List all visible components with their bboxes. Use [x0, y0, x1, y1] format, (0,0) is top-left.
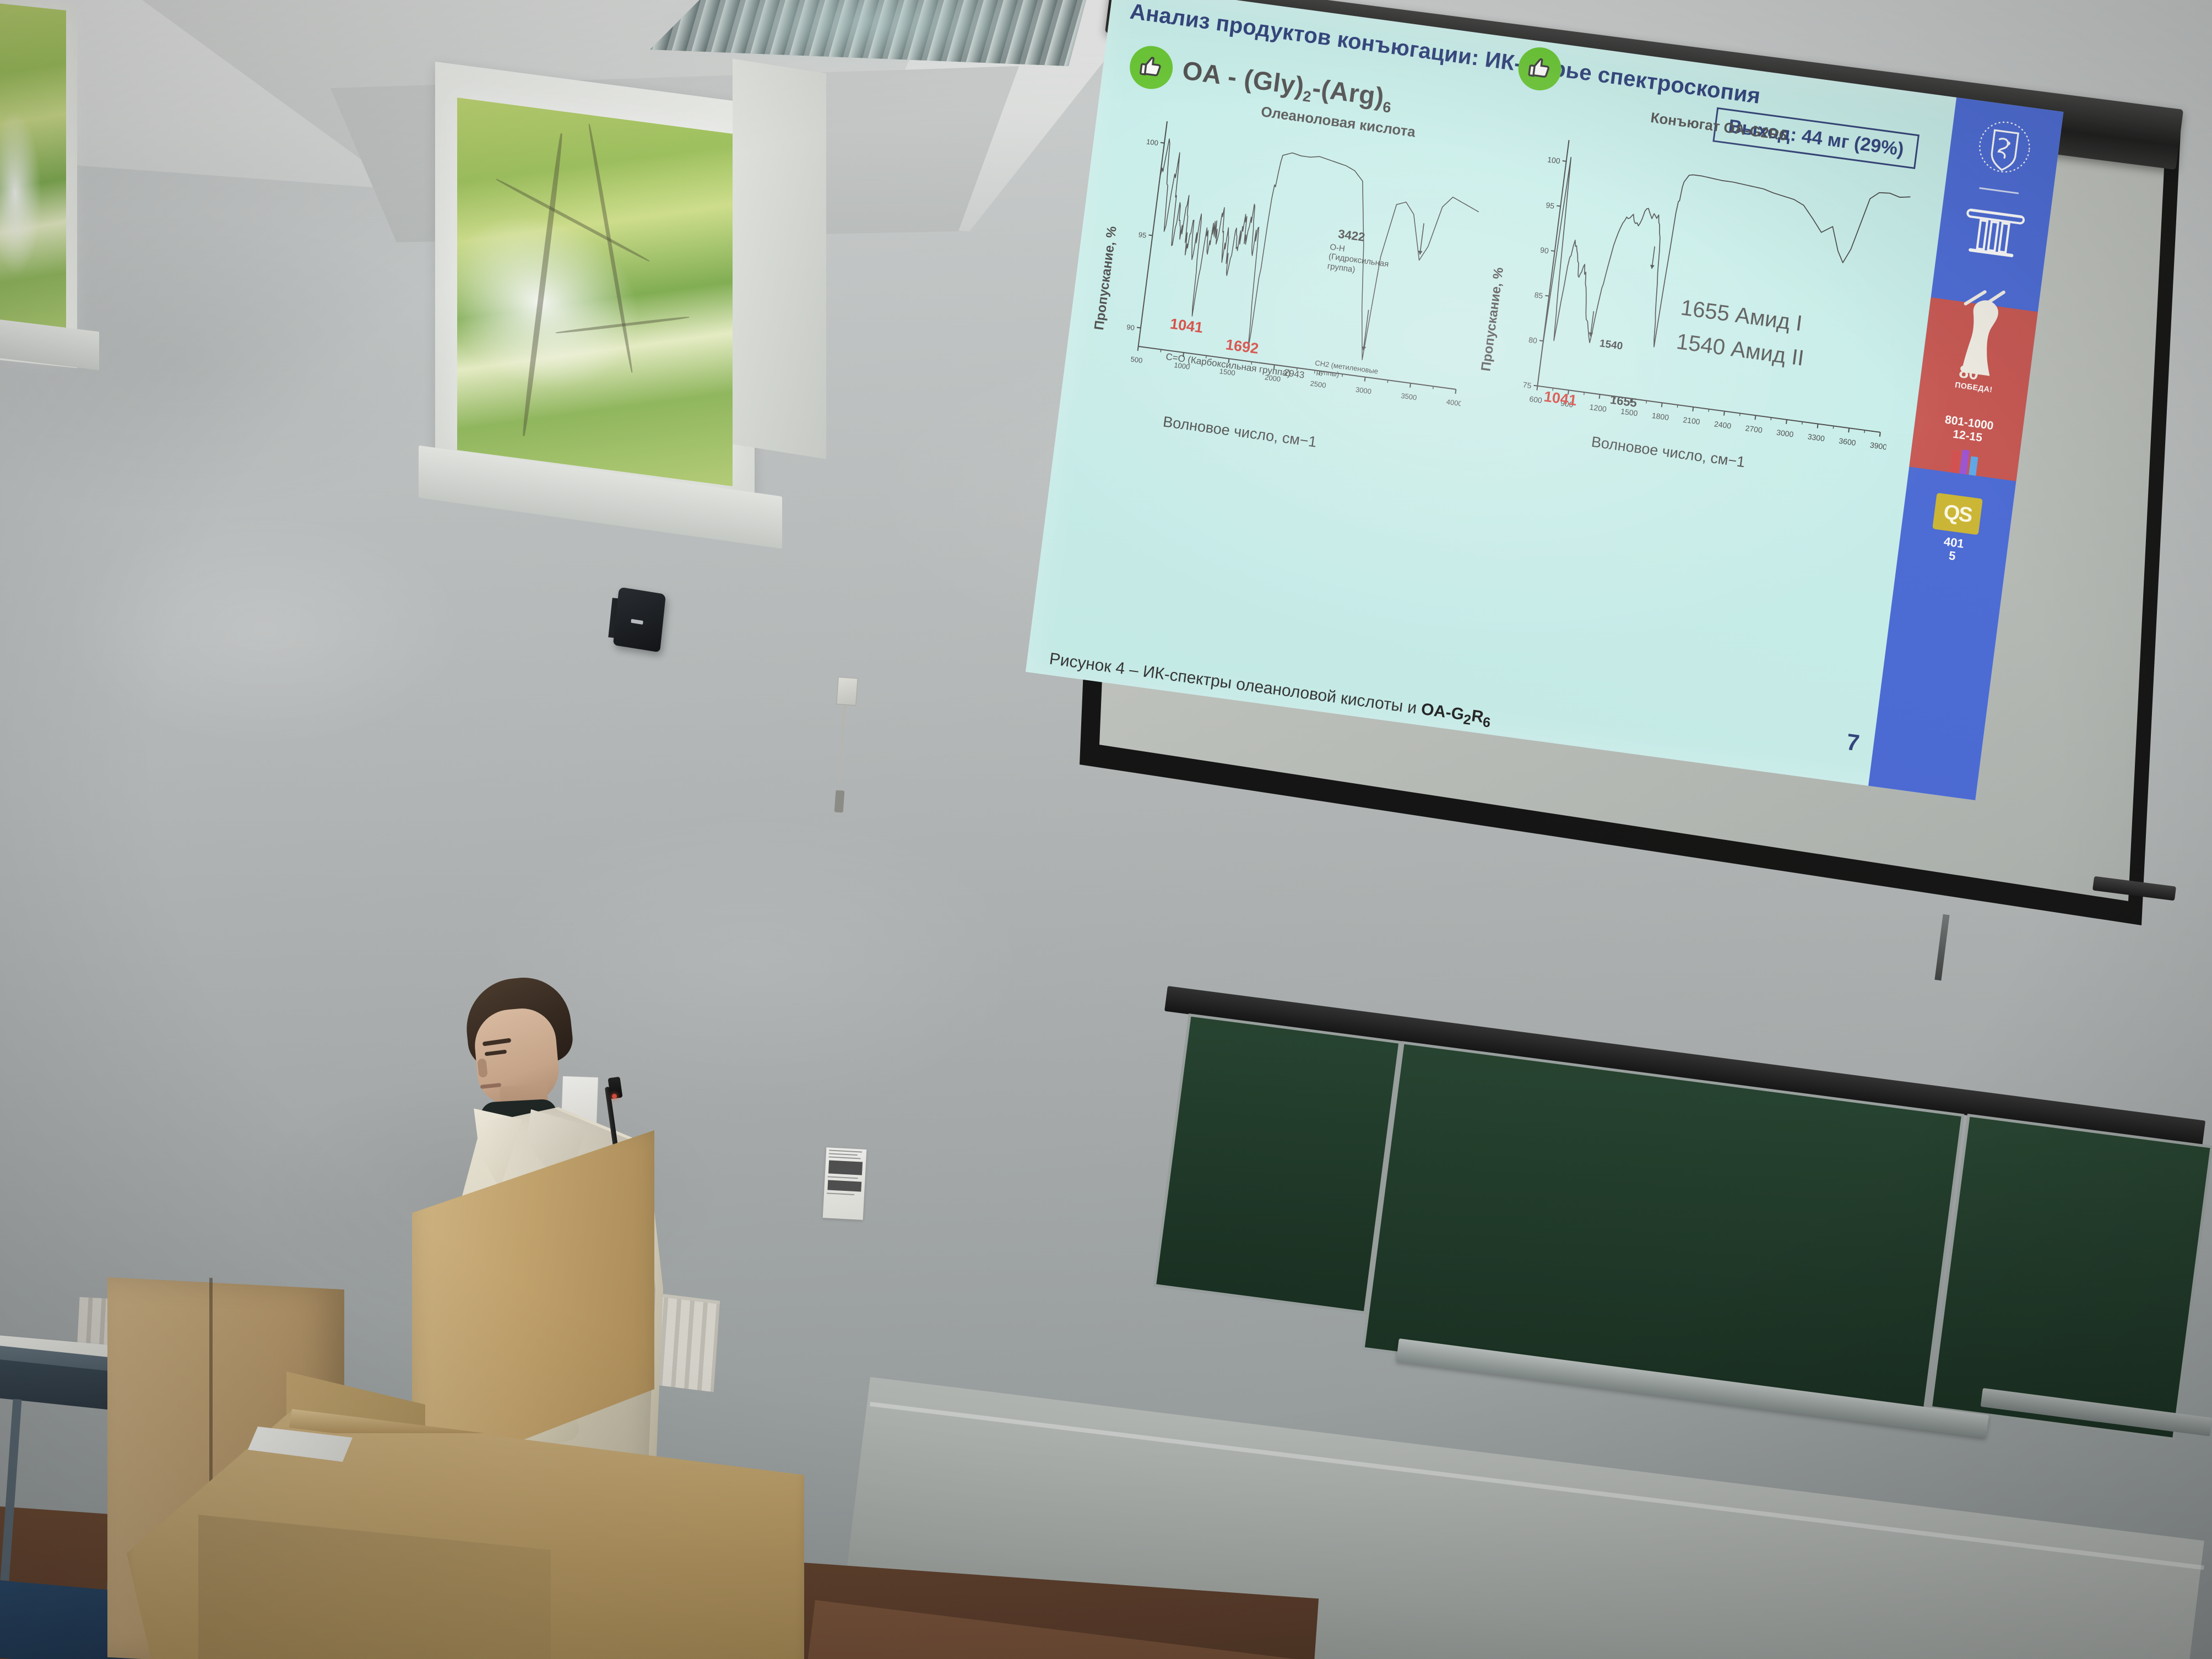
window-reveal-right — [733, 59, 826, 459]
x-tick-label: 500 — [1130, 355, 1143, 365]
x-tick-label: 1800 — [1651, 411, 1669, 422]
motherland-calls-icon: 80 — [1942, 273, 2021, 389]
podium — [286, 1135, 793, 1659]
university-crest-icon — [1971, 115, 2038, 187]
x-tick-label: 3500 — [1401, 392, 1418, 402]
x-tick-label: 2500 — [1310, 379, 1327, 389]
wall-notice — [823, 1147, 867, 1220]
y-tick-label: 100 — [1547, 155, 1560, 165]
notice-line — [827, 1192, 854, 1195]
x-tick-label: 3900 — [1869, 441, 1888, 452]
notice-line — [828, 1156, 860, 1159]
qs-ranking-text: 401 5 — [1942, 535, 1965, 564]
x-tick-label: 4000 — [1446, 398, 1463, 408]
y-tick-label: 85 — [1534, 290, 1544, 300]
window-left — [0, 3, 66, 352]
ceiling-light-glow — [661, 0, 1080, 72]
qs-logo: QS — [1932, 493, 1983, 535]
annotation-arrow — [1420, 223, 1424, 254]
x-tick-label: 600 — [1529, 394, 1543, 405]
projection-screen-hook[interactable] — [1934, 914, 1949, 981]
formula-mid: -(Arg) — [1311, 73, 1386, 112]
the-bar-purple — [1959, 449, 1969, 474]
y-axis-label-left: Пропускание, % — [1092, 225, 1120, 331]
y-axis-label-right: Пропускание, % — [1478, 267, 1507, 372]
times-higher-education-logo — [1950, 447, 1978, 476]
projection-screen-assembly: Анализ продуктов конъюгации: ИК-Фурье сп… — [1080, 0, 2212, 1002]
slide-content-area: Анализ продуктов конъюгации: ИК-Фурье сп… — [1026, 0, 1956, 786]
x-axis-label-left: Волновое число, см−1 — [1162, 413, 1318, 451]
window-center — [457, 97, 733, 486]
y-tick-label: 90 — [1126, 323, 1135, 332]
x-tick-label: 3000 — [1776, 428, 1794, 439]
x-tick-label: 2400 — [1714, 419, 1732, 430]
x-tick-label: 3000 — [1355, 386, 1372, 396]
x-tick-label: 3600 — [1839, 436, 1857, 447]
thumbs-up-icon — [1127, 44, 1175, 92]
x-tick-label: 2700 — [1745, 424, 1763, 435]
notice-line — [828, 1176, 858, 1179]
formula-prefix: OA - (Gly) — [1181, 56, 1306, 101]
chart-oleanolic-acid: Олеаноловая кислота Пропускание, % 90951… — [1068, 88, 1499, 522]
x-tick-label: 2100 — [1683, 415, 1701, 426]
spectrum-trace — [1140, 135, 1483, 378]
ir-spectrum-plot-right: 7580859095100600900120015001800210024002… — [1502, 128, 1921, 464]
slide-number: 7 — [1845, 729, 1861, 757]
figure-caption-compound: OA-G2R6 — [1420, 700, 1492, 728]
annotation-arrowhead — [1650, 265, 1655, 269]
wall-hook — [834, 790, 845, 812]
speaker-badge — [631, 619, 643, 625]
y-tick-label: 75 — [1522, 380, 1532, 390]
notice-image — [827, 1180, 861, 1191]
wall-sensor — [836, 677, 858, 706]
notice-line — [829, 1150, 862, 1152]
formula-sub-2: 6 — [1382, 99, 1392, 116]
projected-slide: Анализ продуктов конъюгации: ИК-Фурье сп… — [1026, 0, 2063, 800]
qs-rank-line-2: 5 — [1942, 548, 1963, 564]
window-glass — [0, 3, 66, 352]
lecture-hall-photo: Анализ продуктов конъюгации: ИК-Фурье сп… — [0, 0, 2212, 1659]
y-tick-label: 80 — [1528, 335, 1538, 345]
blackboard-panel-right — [1929, 1114, 2212, 1440]
wall-speaker — [613, 587, 666, 653]
notice-image — [828, 1160, 863, 1175]
x-tick-label: 1200 — [1589, 403, 1607, 414]
sidebar-divider — [1979, 187, 2019, 194]
y-tick-label: 95 — [1138, 230, 1147, 240]
x-tick-label: 3300 — [1807, 432, 1825, 443]
chart-conjugate: Конъюгат OA-G2R6 Пропускание, % 75808590… — [1456, 140, 1920, 579]
victory-number: 80 — [1958, 361, 1980, 383]
qs-rank-line-1: 401 — [1943, 535, 1965, 551]
y-tick-label: 90 — [1539, 245, 1549, 255]
y-tick-label: 100 — [1146, 137, 1158, 147]
microphone-led-icon — [612, 1094, 617, 1099]
y-tick-label: 95 — [1546, 200, 1555, 210]
blackboard-panel-left — [1153, 1013, 1402, 1314]
column-emblem-icon — [1957, 196, 2031, 268]
notice-line — [829, 1153, 858, 1156]
